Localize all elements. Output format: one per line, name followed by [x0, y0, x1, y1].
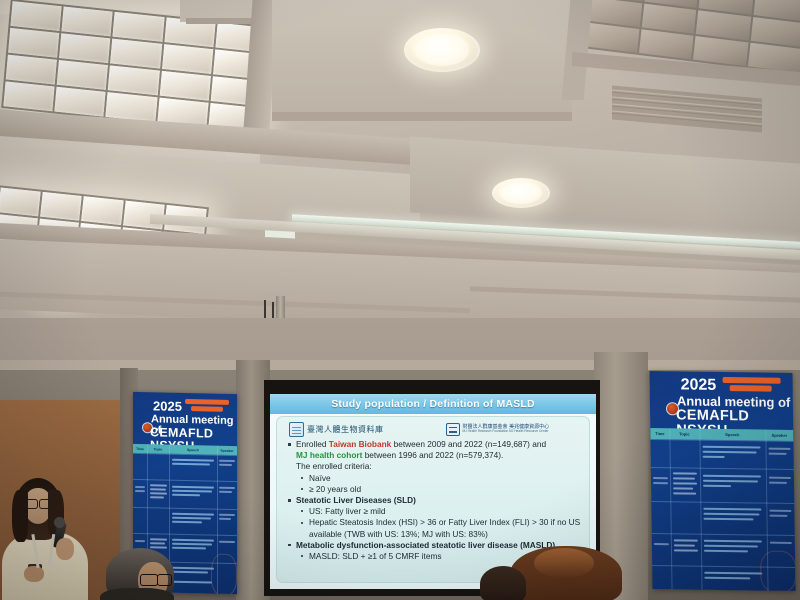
- poster-col-topic: Topic: [669, 428, 699, 439]
- presenter-hair-side: [12, 490, 28, 542]
- bullet-text: between 1996 and 2022 (n=579,374).: [362, 450, 503, 460]
- mj-health-logo: 財團法人群康基金會 美兆健康資源中心 MJ Health Research Fo…: [446, 423, 550, 436]
- bullet-continuation: MJ health cohort between 1996 and 2022 (…: [285, 450, 583, 461]
- bullet-text: Naïve: [309, 473, 331, 483]
- mj-health-mark-icon: [446, 423, 460, 436]
- poster-dna-graphic: [760, 551, 796, 592]
- bullet-text: US: Fatty liver ≥ mild: [309, 506, 385, 516]
- conference-room-photo: 2025 Annual meeting of CEMAFLD NSYSU Tim…: [0, 0, 800, 600]
- poster-year: 2025: [153, 399, 182, 413]
- poster-col-time: Time: [650, 428, 669, 439]
- poster-right: 2025 Annual meeting of CEMAFLD NSYSU Tim…: [649, 371, 795, 591]
- audience-hair: [480, 566, 526, 600]
- presenter-glasses: [39, 499, 52, 509]
- bullet-text: MASLD: SLD + ≥1 of 5 CMRF items: [309, 551, 442, 561]
- presenter-glasses: [25, 499, 38, 509]
- poster-year: 2025: [681, 377, 717, 394]
- taiwan-biobank-seal-icon: [289, 422, 304, 437]
- poster-col-speech: Speech: [699, 429, 765, 441]
- audience-hair-highlight: [534, 548, 594, 578]
- bullet-item: Hepatic Steatosis Index (HSI) > 36 or Fa…: [297, 517, 583, 528]
- bullet-continuation: The enrolled criteria:: [285, 461, 583, 472]
- bullet-text: ≥ 20 years old: [309, 484, 361, 494]
- bullet-item: Enrolled Taiwan Biobank between 2009 and…: [285, 439, 583, 450]
- poster-col-topic: Topic: [147, 444, 169, 453]
- poster-col-speaker: Speaker: [765, 430, 793, 441]
- bullet-item: ≥ 20 years old: [297, 484, 583, 495]
- ceiling-seam: [272, 112, 572, 121]
- bullet-item: Naïve: [297, 473, 583, 484]
- poster-badge-2: [191, 406, 223, 412]
- highlight-mj-cohort: MJ health cohort: [296, 450, 362, 460]
- bullet-continuation: available (TWB with US: 13%; MJ with US:…: [285, 529, 583, 540]
- bullet-text: The enrolled criteria:: [296, 461, 372, 471]
- slide-title-text: Study population / Definition of MASLD: [331, 398, 535, 410]
- audience-member-left: [100, 548, 220, 600]
- bullet-item: Steatotic Liver Diseases (SLD): [285, 495, 583, 506]
- bullet-item: US: Fatty liver ≥ mild: [297, 506, 583, 517]
- audience-glasses: [140, 574, 158, 586]
- poster-col-time: Time: [133, 444, 147, 453]
- slide-title-bar: Study population / Definition of MASLD: [270, 394, 596, 414]
- poster-badge-1: [185, 399, 229, 405]
- highlight-taiwan-biobank: Taiwan Biobank: [329, 439, 392, 449]
- taiwan-biobank-logo: 臺灣人體生物資料庫: [289, 422, 384, 437]
- microphone-head: [54, 517, 65, 528]
- taiwan-biobank-label: 臺灣人體生物資料庫: [307, 424, 384, 435]
- presenter-hand-clicker: [24, 566, 44, 582]
- bullet-text: Hepatic Steatosis Index (HSI) > 36 or Fa…: [309, 517, 580, 527]
- audience-glasses: [157, 574, 172, 586]
- recessed-downlight-mid: [492, 178, 550, 208]
- mj-health-label-en: MJ Health Research Foundation MJ Health …: [463, 430, 550, 433]
- bullet-text: between 2009 and 2022 (n=149,687) and: [391, 439, 546, 449]
- audience-shoulder: [100, 588, 174, 600]
- bullet-text: Enrolled: [296, 439, 329, 449]
- presenter-hand-mic: [56, 538, 74, 560]
- poster-badge-1: [723, 377, 781, 384]
- bullet-text: Steatotic Liver Diseases (SLD): [296, 495, 416, 505]
- audience-member-right: [480, 566, 528, 600]
- recessed-downlight-top: [404, 28, 480, 72]
- bullet-text: available (TWB with US: 13%; MJ with US:…: [309, 529, 488, 539]
- slide-logo-row: 臺灣人體生物資料庫 財團法人群康基金會 美兆健康資源中心 MJ Health R…: [289, 421, 579, 437]
- poster-col-speaker: Speaker: [217, 446, 237, 455]
- presenter-torso: [2, 532, 88, 600]
- poster-badge-2: [730, 385, 772, 392]
